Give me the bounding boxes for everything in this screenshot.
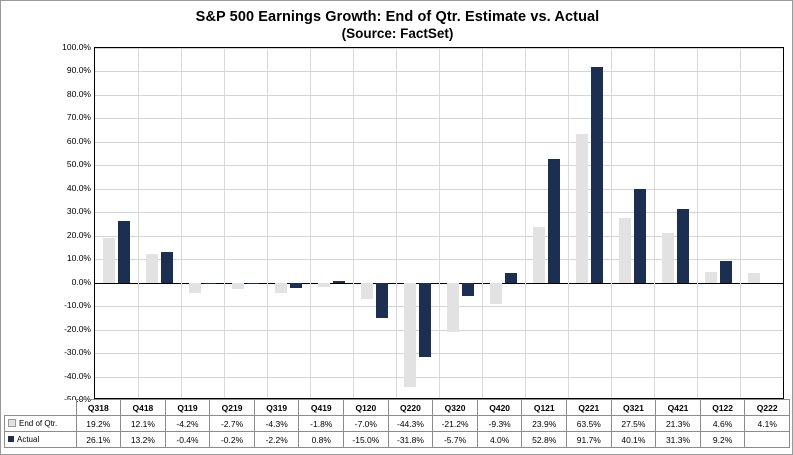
table-period-header: Q318 [76, 400, 121, 416]
bar-estimate-Q222 [748, 273, 761, 283]
chart-title-block: S&P 500 Earnings Growth: End of Qtr. Est… [1, 9, 793, 42]
bar-actual-Q219 [247, 283, 260, 284]
data-table: Q318Q418Q119Q219Q319Q419Q120Q220Q320Q420… [4, 399, 790, 448]
category-gridline [267, 48, 268, 398]
category-gridline [396, 48, 397, 398]
legend-swatch-icon [8, 419, 16, 427]
table-period-header: Q121 [522, 400, 567, 416]
category-gridline [525, 48, 526, 398]
category-gridline [181, 48, 182, 398]
y-tick-label: 70.0% [67, 112, 91, 122]
table-cell: 9.2% [700, 432, 745, 448]
table-cell [745, 432, 790, 448]
plot-wrapper: 100.0%90.0%80.0%70.0%60.0%50.0%40.0%30.0… [46, 47, 784, 399]
table-cell: -5.7% [433, 432, 478, 448]
table-period-header: Q419 [299, 400, 344, 416]
table-cell: 40.1% [611, 432, 656, 448]
bar-actual-Q320 [462, 283, 475, 296]
bar-actual-Q419 [333, 281, 346, 283]
table-cell: -2.7% [210, 416, 255, 432]
bar-actual-Q120 [376, 283, 389, 318]
table-cell: 91.7% [567, 432, 612, 448]
legend-swatch-icon [8, 436, 14, 442]
bar-estimate-Q220 [404, 283, 417, 387]
table-cell: 19.2% [76, 416, 121, 432]
table-cell: 13.2% [121, 432, 166, 448]
bar-estimate-Q419 [318, 283, 331, 287]
bar-actual-Q119 [204, 283, 217, 284]
table-cell: -9.3% [477, 416, 522, 432]
table-cell: -1.8% [299, 416, 344, 432]
table-cell: 4.1% [745, 416, 790, 432]
plot-area [94, 47, 784, 399]
bar-estimate-Q320 [447, 283, 460, 333]
bar-actual-Q319 [290, 283, 303, 288]
category-gridline [611, 48, 612, 398]
bar-estimate-Q318 [103, 238, 116, 283]
category-gridline [310, 48, 311, 398]
table-period-header: Q319 [254, 400, 299, 416]
table-cell: 12.1% [121, 416, 166, 432]
bar-estimate-Q119 [189, 283, 202, 293]
y-tick-label: 100.0% [62, 42, 91, 52]
bar-actual-Q421 [677, 209, 690, 282]
table-cell: -2.2% [254, 432, 299, 448]
bar-estimate-Q319 [275, 283, 288, 293]
table-period-header: Q421 [656, 400, 701, 416]
bar-actual-Q221 [591, 67, 604, 282]
y-tick-label: 80.0% [67, 89, 91, 99]
bar-estimate-Q219 [232, 283, 245, 289]
category-gridline [353, 48, 354, 398]
table-period-header: Q222 [745, 400, 790, 416]
table-period-header: Q219 [210, 400, 255, 416]
y-tick-label: -30.0% [64, 347, 91, 357]
chart-title: S&P 500 Earnings Growth: End of Qtr. Est… [1, 9, 793, 26]
table-period-header: Q321 [611, 400, 656, 416]
legend-label: Actual [17, 435, 39, 444]
y-tick-label: -20.0% [64, 324, 91, 334]
category-gridline [654, 48, 655, 398]
table-cell: 0.8% [299, 432, 344, 448]
category-gridline [439, 48, 440, 398]
table-period-header: Q420 [477, 400, 522, 416]
table-cell: 4.6% [700, 416, 745, 432]
y-tick-label: 10.0% [67, 253, 91, 263]
y-axis-labels: 100.0%90.0%80.0%70.0%60.0%50.0%40.0%30.0… [46, 47, 94, 399]
chart-container: S&P 500 Earnings Growth: End of Qtr. Est… [0, 0, 793, 455]
table-row: Actual26.1%13.2%-0.4%-0.2%-2.2%0.8%-15.0… [5, 432, 790, 448]
y-tick-label: -40.0% [64, 371, 91, 381]
bar-actual-Q318 [118, 221, 131, 282]
bar-actual-Q418 [161, 252, 174, 283]
table-period-header: Q120 [344, 400, 389, 416]
table-cell: 4.0% [477, 432, 522, 448]
legend-entry-actual: Actual [5, 432, 77, 448]
bar-estimate-Q122 [705, 272, 718, 283]
y-tick-label: 60.0% [67, 136, 91, 146]
table-corner-cell [5, 400, 77, 416]
category-gridline [568, 48, 569, 398]
chart-subtitle: (Source: FactSet) [1, 26, 793, 42]
bar-actual-Q420 [505, 273, 518, 282]
table-period-header: Q220 [388, 400, 433, 416]
y-tick-label: -10.0% [64, 300, 91, 310]
table-cell: -44.3% [388, 416, 433, 432]
bar-estimate-Q321 [619, 218, 632, 283]
table-period-header: Q418 [121, 400, 166, 416]
y-tick-label: 50.0% [67, 159, 91, 169]
legend-entry-estimate: End of Qtr. [5, 416, 77, 432]
table-cell: -21.2% [433, 416, 478, 432]
table-cell: -31.8% [388, 432, 433, 448]
table-cell: 63.5% [567, 416, 612, 432]
bar-actual-Q122 [720, 261, 733, 283]
y-tick-label: 90.0% [67, 65, 91, 75]
bar-estimate-Q221 [576, 134, 589, 283]
category-gridline [697, 48, 698, 398]
table-cell: -4.3% [254, 416, 299, 432]
table-period-header: Q119 [165, 400, 210, 416]
table-period-header: Q320 [433, 400, 478, 416]
table-header-row: Q318Q418Q119Q219Q319Q419Q120Q220Q320Q420… [5, 400, 790, 416]
bar-actual-Q220 [419, 283, 432, 358]
data-table-wrapper: Q318Q418Q119Q219Q319Q419Q120Q220Q320Q420… [4, 399, 790, 452]
table-cell: 21.3% [656, 416, 701, 432]
table-cell: 31.3% [656, 432, 701, 448]
y-tick-label: 30.0% [67, 206, 91, 216]
y-tick-label: 20.0% [67, 230, 91, 240]
table-cell: -15.0% [344, 432, 389, 448]
table-row: End of Qtr.19.2%12.1%-4.2%-2.7%-4.3%-1.8… [5, 416, 790, 432]
bar-estimate-Q418 [146, 254, 159, 282]
bar-estimate-Q120 [361, 283, 374, 299]
legend-label: End of Qtr. [19, 419, 57, 428]
table-cell: -4.2% [165, 416, 210, 432]
table-cell: 26.1% [76, 432, 121, 448]
category-gridline [224, 48, 225, 398]
bar-estimate-Q421 [662, 233, 675, 283]
bar-estimate-Q121 [533, 227, 546, 283]
category-gridline [482, 48, 483, 398]
y-tick-label: 0.0% [72, 277, 91, 287]
category-gridline [138, 48, 139, 398]
y-tick-label: 40.0% [67, 183, 91, 193]
category-gridline [740, 48, 741, 398]
table-cell: 23.9% [522, 416, 567, 432]
table-cell: -0.2% [210, 432, 255, 448]
bar-estimate-Q420 [490, 283, 503, 305]
table-period-header: Q122 [700, 400, 745, 416]
table-cell: -0.4% [165, 432, 210, 448]
bar-actual-Q321 [634, 189, 647, 283]
table-cell: 27.5% [611, 416, 656, 432]
table-period-header: Q221 [567, 400, 612, 416]
table-cell: 52.8% [522, 432, 567, 448]
table-cell: -7.0% [344, 416, 389, 432]
bar-actual-Q121 [548, 159, 561, 283]
